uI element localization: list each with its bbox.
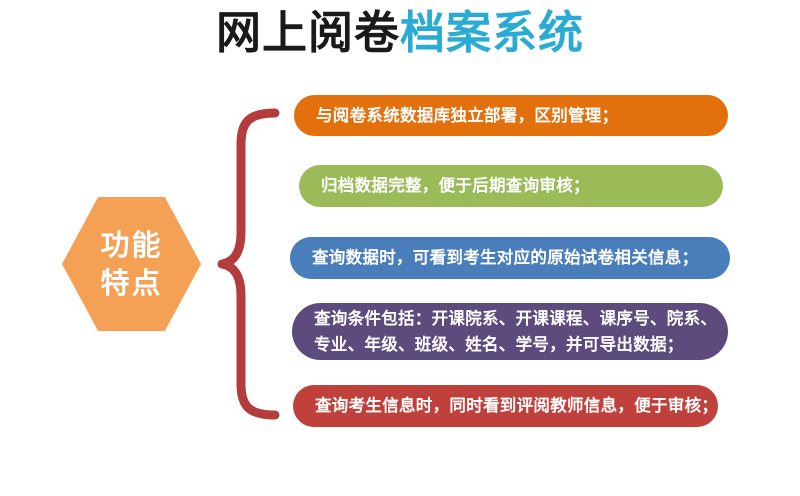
feature-item-3: 查询数据时，可看到考生对应的原始试卷相关信息； [290, 237, 730, 279]
page-title: 网上阅卷档案系统 [0, 4, 800, 62]
feature-item-4: 查询条件包括：开课院系、开课课程、课序号、院系、 专业、年级、班级、姓名、学号，… [292, 303, 728, 360]
feature-item-4-line-1: 查询条件包括：开课院系、开课课程、课序号、院系、 [314, 306, 706, 332]
page-title-dark-part: 网上阅卷 [216, 6, 400, 59]
feature-hexagon-badge: 功能 特点 [62, 197, 201, 331]
hexagon-label-line-2: 特点 [100, 264, 162, 302]
feature-item-1: 与阅卷系统数据库独立部署，区别管理； [294, 95, 728, 136]
feature-item-4-line-2: 专业、年级、班级、姓名、学号，并可导出数据； [314, 332, 706, 358]
hexagon-label-line-1: 功能 [100, 226, 162, 264]
page-title-accent-part: 档案系统 [400, 6, 584, 59]
feature-item-3-line-1: 查询数据时，可看到考生对应的原始试卷相关信息； [312, 245, 708, 271]
curly-brace-icon [205, 108, 285, 420]
feature-item-1-line-1: 与阅卷系统数据库独立部署，区别管理； [316, 103, 706, 129]
feature-item-2: 归档数据完整，便于后期查询审核； [299, 165, 723, 207]
curly-brace-connector [205, 108, 285, 420]
feature-item-5-line-1: 查询考生信息时，同时看到评阅教师信息，便于审核； [315, 393, 696, 419]
feature-item-5: 查询考生信息时，同时看到评阅教师信息，便于审核； [293, 385, 718, 427]
feature-item-2-line-1: 归档数据完整，便于后期查询审核； [321, 173, 701, 199]
